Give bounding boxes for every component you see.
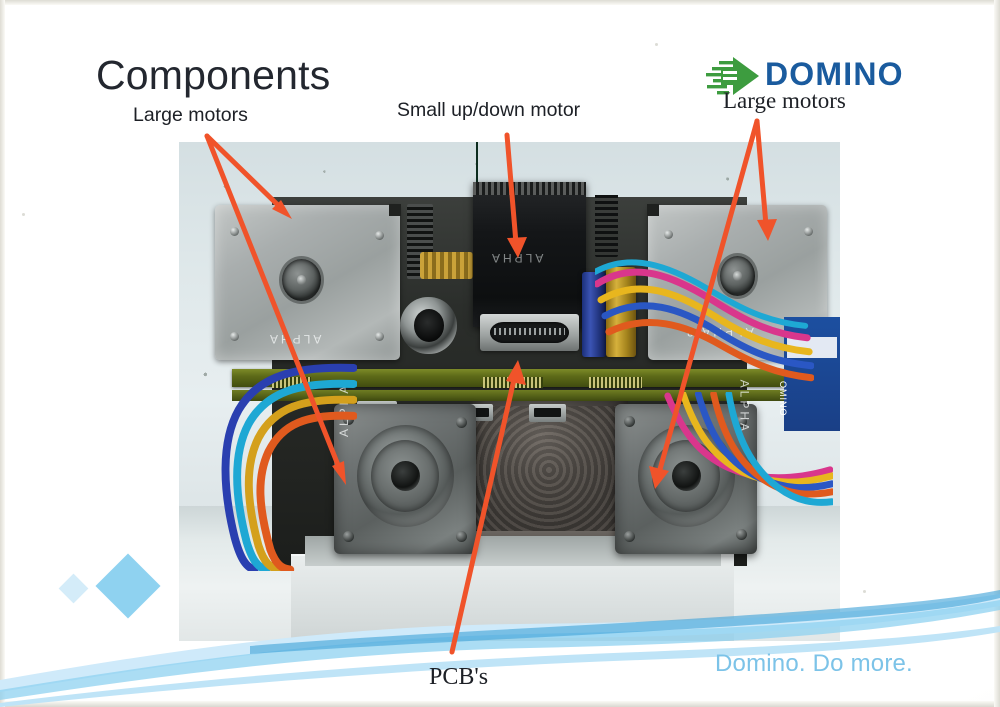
components-photograph: ALPHA ALPHA 2 ALPHA (179, 142, 840, 641)
label-large-motors-right: Large motors (723, 88, 846, 114)
scan-speck (863, 590, 866, 593)
scan-edge-left (0, 0, 5, 707)
label-large-motors-left: Large motors (133, 104, 248, 127)
pcb-pin-header (483, 377, 542, 389)
decor-diamond-small (59, 574, 89, 604)
scan-speck (22, 213, 25, 216)
decor-diamond-large (95, 553, 160, 618)
scan-edge-bottom (0, 701, 1000, 707)
slide-canvas: Components DOMINO (0, 0, 1000, 707)
wire-bundle-left (199, 362, 358, 572)
scan-speck (655, 43, 658, 46)
dsub-connector (480, 314, 579, 351)
label-small-up-down-motor: Small up/down motor (397, 99, 580, 122)
brand-tagline: Domino. Do more. (715, 650, 913, 678)
wire-bundle-lower-right (662, 392, 834, 542)
scan-edge-right (994, 0, 1000, 707)
scan-edge-top (0, 0, 1000, 5)
circular-connector-pins (414, 309, 444, 342)
small-up-down-motor: ALPHA (473, 182, 585, 327)
small-motor-etch-label: ALPHA (489, 251, 543, 265)
label-pcb: PCB's (429, 664, 488, 691)
motor-etch-label: ALPHA (267, 332, 321, 346)
dsub-pins (494, 328, 565, 335)
motor-cooling-fins (473, 182, 585, 195)
mini-connector (529, 404, 565, 422)
page-title: Components (96, 52, 330, 99)
machine-base-block (291, 554, 734, 641)
worm-gear (420, 252, 473, 279)
large-motor-plate-upper-left: ALPHA (215, 205, 400, 360)
